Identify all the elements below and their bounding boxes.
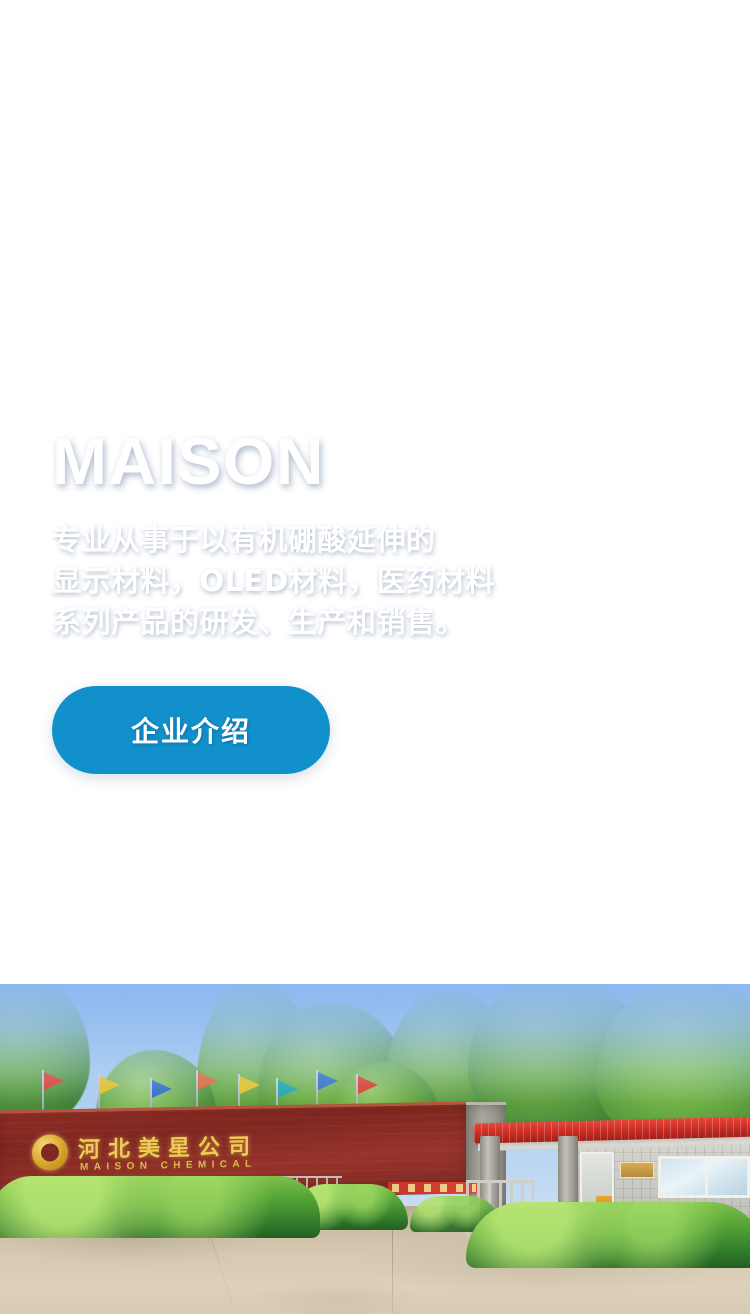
hedge [466,1202,750,1268]
hero-section: 河北美星公司 MAISON CHEMICAL MAISON 专业从事于以有机硼酸… [0,0,750,1314]
hero-copy: MAISON 专业从事于以有机硼酸延伸的 显示材料，OLED材料，医药材料 系列… [52,428,672,774]
factory-entrance-photo: 河北美星公司 MAISON CHEMICAL [0,984,750,1314]
flag [318,1072,338,1090]
hero-tagline: 专业从事于以有机硼酸延伸的 显示材料，OLED材料，医药材料 系列产品的研发、生… [52,520,672,644]
flag [152,1080,172,1098]
flag [358,1076,378,1094]
company-intro-button[interactable]: 企业介绍 [52,686,330,774]
flag [100,1076,120,1094]
company-sign-chinese: 河北美星公司 [78,1129,258,1164]
tree [0,984,90,1126]
page-title: MAISON [52,428,672,494]
flag [240,1076,260,1094]
flag [198,1072,218,1090]
flag [278,1080,298,1098]
flag [44,1072,64,1090]
company-logo-icon [32,1134,68,1171]
company-sign-english: MAISON CHEMICAL [80,1159,257,1173]
hedge [0,1176,320,1238]
guard-house-window [658,1156,750,1198]
guard-house-plaque [620,1162,654,1178]
